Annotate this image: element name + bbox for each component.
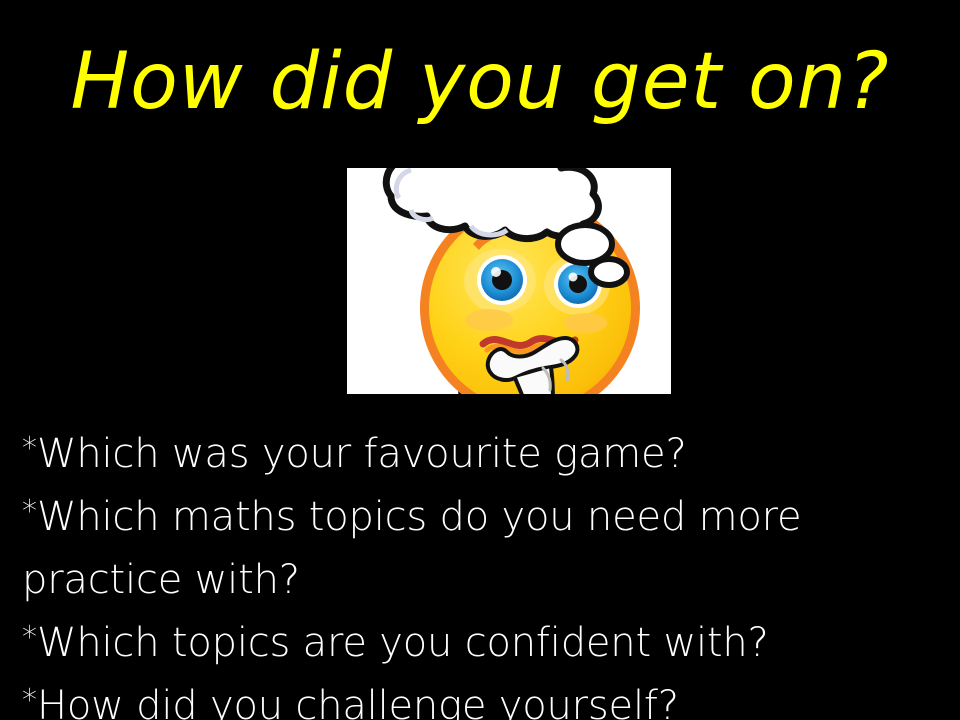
list-item-label: practice with?: [22, 557, 300, 603]
list-item-label: Which maths topics do you need more: [37, 494, 801, 540]
slide-image-frame: [347, 168, 671, 394]
presentation-slide: How did you get on?: [0, 0, 960, 720]
list-item: *Which topics are you confident with?: [22, 609, 942, 672]
list-item: *Which maths topics do you need more: [22, 483, 942, 546]
page-title: How did you get on?: [0, 34, 960, 130]
list-item-label: Which was your favourite game?: [37, 431, 687, 477]
list-item-continuation: practice with?: [22, 546, 942, 609]
list-item-label: Which topics are you confident with?: [37, 620, 769, 666]
bullet-marker: *: [22, 494, 37, 529]
list-item: *Which was your favourite game?: [22, 420, 942, 483]
list-item: *How did you challenge yourself?: [22, 672, 942, 720]
thinking-smiley-icon: [347, 168, 671, 394]
list-item-label: How did you challenge yourself?: [37, 683, 679, 720]
bullet-marker: *: [22, 431, 37, 466]
bullet-marker: *: [22, 683, 37, 718]
slide-body-text: *Which was your favourite game? *Which m…: [22, 420, 942, 720]
bullet-marker: *: [22, 620, 37, 655]
